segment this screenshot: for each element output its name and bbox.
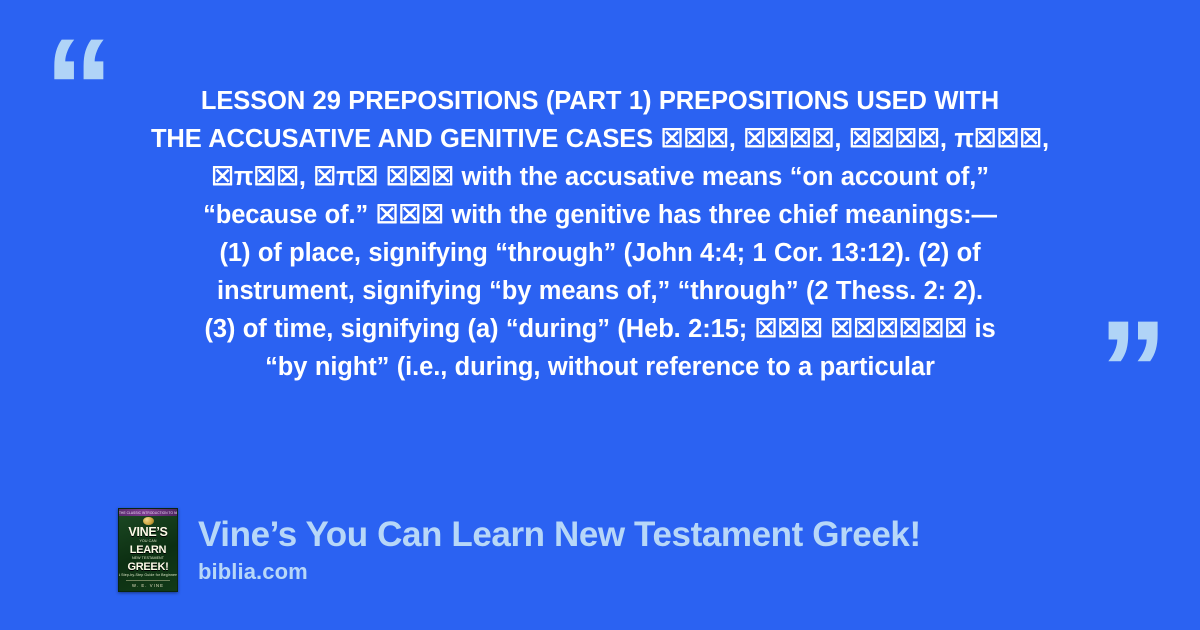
book-cover-learn: LEARN	[130, 544, 166, 556]
quote-line-7: (3) of time, signifying (a) “during” (He…	[100, 310, 1100, 348]
book-cover-divider	[126, 580, 170, 581]
book-cover-author: W. E. VINE	[132, 583, 164, 588]
quote-line-6: instrument, signifying “by means of,” “t…	[100, 272, 1100, 310]
brand-title: Vine’s You Can Learn New Testament Greek…	[198, 514, 921, 556]
book-cover-top-band: THE CLASSIC INTRODUCTION TO NEW TESTAMEN…	[119, 509, 177, 516]
footer-branding: THE CLASSIC INTRODUCTION TO NEW TESTAMEN…	[118, 508, 921, 592]
book-cover-greek: GREEK!	[128, 561, 169, 573]
close-quote-icon: ”	[1098, 300, 1166, 440]
quote-text: LESSON 29 PREPOSITIONS (PART 1) PREPOSIT…	[100, 82, 1100, 386]
book-cover-thumbnail: THE CLASSIC INTRODUCTION TO NEW TESTAMEN…	[118, 508, 178, 592]
book-cover-seal-icon	[143, 517, 154, 525]
quote-card: “ ” LESSON 29 PREPOSITIONS (PART 1) PREP…	[0, 0, 1200, 630]
quote-line-3: ☒π☒☒, ☒π☒ ☒☒☒ with the accusative means …	[100, 158, 1100, 196]
brand-url[interactable]: biblia.com	[198, 557, 921, 587]
quote-line-4: “because of.” ☒☒☒ with the genitive has …	[100, 196, 1100, 234]
quote-line-2: THE ACCUSATIVE AND GENITIVE CASES ☒☒☒, ☒…	[100, 120, 1100, 158]
book-cover-tagline: A Step-by-Step Guide for Beginners	[118, 573, 178, 578]
book-cover-title: VINE’S	[128, 526, 167, 539]
brand-text-block: Vine’s You Can Learn New Testament Greek…	[198, 514, 921, 587]
quote-line-1: LESSON 29 PREPOSITIONS (PART 1) PREPOSIT…	[100, 82, 1100, 120]
quote-line-5: (1) of place, signifying “through” (John…	[100, 234, 1100, 272]
quote-line-8: “by night” (i.e., during, without refere…	[100, 348, 1100, 386]
